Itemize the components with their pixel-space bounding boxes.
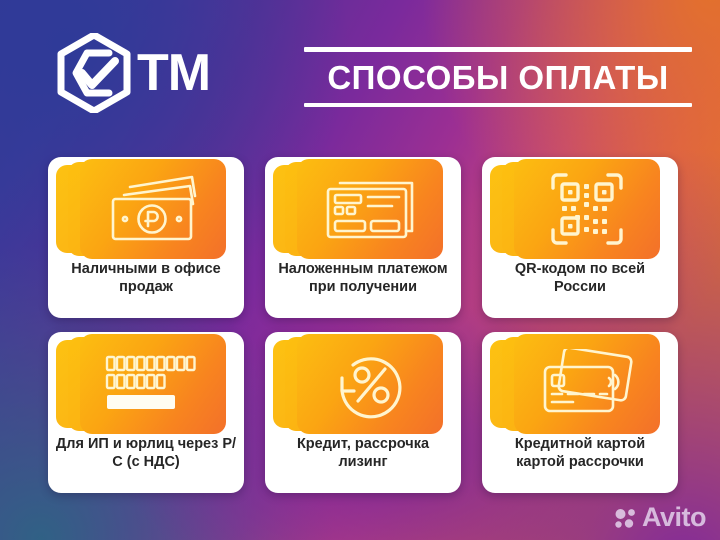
- tile-front-layer: [297, 159, 443, 259]
- avito-watermark-text: Avito: [642, 504, 706, 531]
- payment-card-label: Кредит, рассрочка лизинг: [265, 436, 461, 471]
- tile-front-layer: [514, 334, 660, 434]
- payment-card-label: Наложенным платежом при получении: [265, 261, 461, 296]
- payment-methods-poster: TM СПОСОБЫ ОПЛАТЫ: [0, 0, 720, 540]
- qr-code-icon: [549, 171, 625, 247]
- tile-front-layer: [514, 159, 660, 259]
- tile-front-layer: [80, 334, 226, 434]
- icon-tile-stack: [48, 157, 244, 262]
- payment-card-label: QR-кодом по всей России: [482, 261, 678, 296]
- icon-tile-stack: [265, 157, 461, 262]
- hexagon-check-logo-icon: [57, 33, 131, 113]
- payment-card-cash-on-delivery[interactable]: Наложенным платежом при получении: [265, 157, 461, 318]
- payment-card-label: Наличными в офисе продаж: [48, 261, 244, 296]
- icon-tile-stack: [482, 157, 678, 262]
- page-title: СПОСОБЫ ОПЛАТЫ: [304, 52, 692, 103]
- account-number-icon: [103, 353, 203, 415]
- title-rule-bottom: [304, 103, 692, 107]
- poster-title-block: СПОСОБЫ ОПЛАТЫ: [304, 47, 692, 107]
- percent-refresh-icon: [331, 345, 409, 423]
- brand-logo-text: TM: [137, 47, 210, 99]
- icon-tile-stack: [265, 332, 461, 437]
- payment-card-credit-installment[interactable]: Кредит, рассрочка лизинг: [265, 332, 461, 493]
- payment-card-qr-code[interactable]: QR-кодом по всей России: [482, 157, 678, 318]
- avito-watermark: Avito: [614, 504, 706, 531]
- payment-card-label: Для ИП и юрлиц через Р/С (с НДС): [48, 436, 244, 471]
- icon-tile-stack: [48, 332, 244, 437]
- payment-card-cash-in-office[interactable]: Наличными в офисе продаж: [48, 157, 244, 318]
- poster-header: TM СПОСОБЫ ОПЛАТЫ: [0, 0, 720, 145]
- payment-card-credit-card[interactable]: Кредитной картой картой рассрочки: [482, 332, 678, 493]
- invoice-form-icon: [322, 173, 418, 245]
- banknotes-ruble-icon: [104, 173, 202, 245]
- tile-front-layer: [80, 159, 226, 259]
- tile-front-layer: [297, 334, 443, 434]
- payment-methods-grid: Наличными в офисе продаж: [48, 157, 674, 493]
- payment-card-label: Кредитной картой картой рассрочки: [482, 436, 678, 471]
- avito-dots-icon: [614, 508, 637, 528]
- brand-logo: TM: [57, 33, 210, 113]
- payment-card-bank-transfer[interactable]: Для ИП и юрлиц через Р/С (с НДС): [48, 332, 244, 493]
- icon-tile-stack: [482, 332, 678, 437]
- credit-cards-contactless-icon: [539, 349, 635, 419]
